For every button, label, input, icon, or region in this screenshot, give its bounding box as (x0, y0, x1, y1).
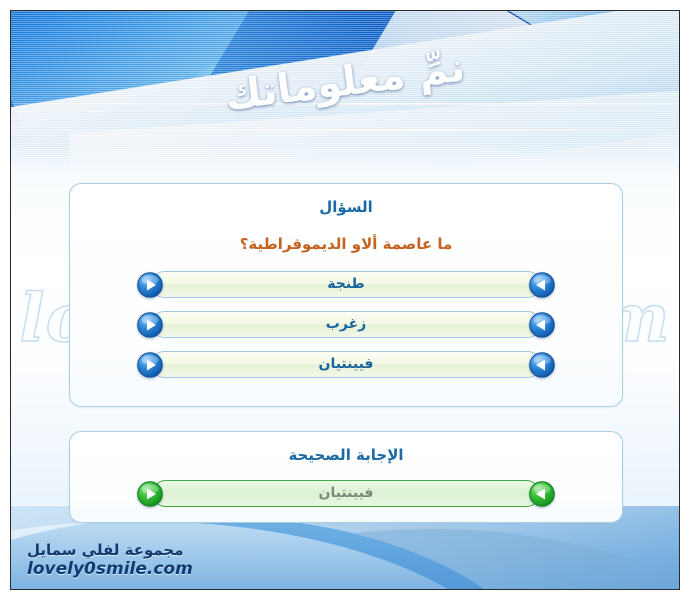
correct-answer-row[interactable]: فيينتيان (137, 478, 555, 510)
options-list: طنجة (70, 270, 622, 380)
play-left-icon[interactable] (529, 481, 555, 507)
play-left-icon[interactable] (529, 352, 555, 378)
footer-arabic-text: مجموعة لفلي سمايل (27, 542, 193, 559)
question-panel: السؤال ما عاصمة ألاو الديموقراطية؟ (69, 183, 623, 407)
question-text: ما عاصمة ألاو الديموقراطية؟ (70, 235, 622, 253)
correct-answer-label: فيينتيان (137, 478, 555, 509)
question-panel-heading: السؤال (70, 198, 622, 216)
play-left-icon[interactable] (529, 272, 555, 298)
option-label: فيينتيان (137, 350, 555, 379)
option-row[interactable]: فيينتيان (137, 350, 555, 380)
footer-branding: مجموعة لفلي سمايل lovely0smile.com (27, 542, 193, 579)
correct-answer-panel: الإجابة الصحيحة (69, 431, 623, 523)
footer-url-text: lovely0smile.com (27, 560, 193, 579)
banner-bottom-fade (11, 142, 679, 176)
play-right-icon[interactable] (137, 352, 163, 378)
play-right-icon[interactable] (137, 272, 163, 298)
option-label: زغرب (137, 310, 555, 339)
banner-light-streak-1 (11, 103, 679, 105)
slide-canvas: نمِّ معلوماتك lovely0smile.com السؤال ما… (11, 11, 679, 589)
play-right-icon[interactable] (137, 312, 163, 338)
option-row[interactable]: زغرب (137, 310, 555, 340)
option-row[interactable]: طنجة (137, 270, 555, 300)
play-right-icon[interactable] (137, 481, 163, 507)
answer-panel-heading: الإجابة الصحيحة (70, 446, 622, 464)
play-left-icon[interactable] (529, 312, 555, 338)
slide-frame: نمِّ معلوماتك lovely0smile.com السؤال ما… (10, 10, 680, 590)
header-banner (11, 11, 679, 176)
option-label: طنجة (137, 270, 555, 299)
banner-light-streak-2 (11, 129, 679, 131)
